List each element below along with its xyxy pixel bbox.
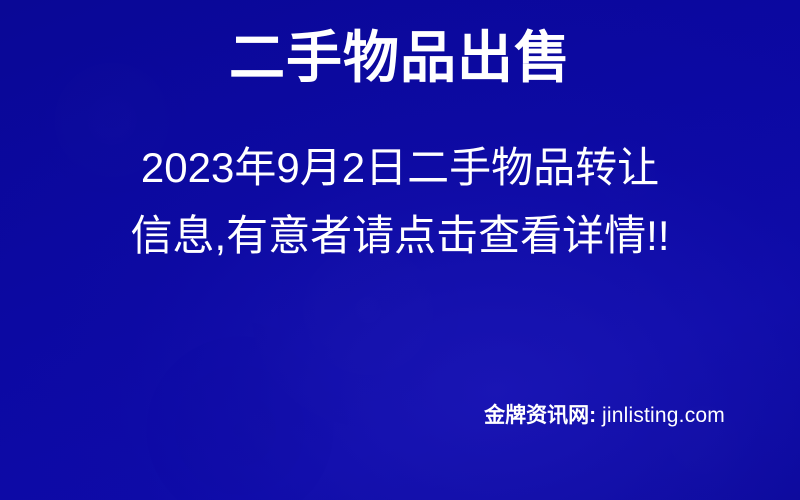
site-domain-label: jinlisting.com	[602, 404, 725, 427]
page-title: 二手物品出售	[0, 26, 800, 90]
footer-credit: 金牌资讯网: jinlisting.com	[484, 402, 725, 430]
announcement-body: 2023年9月2日二手物品转让 信息,有意者请点击查看详情!!	[0, 134, 800, 270]
poster-canvas: 二手物品出售 2023年9月2日二手物品转让 信息,有意者请点击查看详情!! 金…	[0, 0, 800, 500]
announcement-line-1: 2023年9月2日二手物品转让	[0, 134, 800, 202]
site-name-label: 金牌资讯网:	[484, 404, 596, 427]
announcement-line-2: 信息,有意者请点击查看详情!!	[0, 202, 800, 270]
